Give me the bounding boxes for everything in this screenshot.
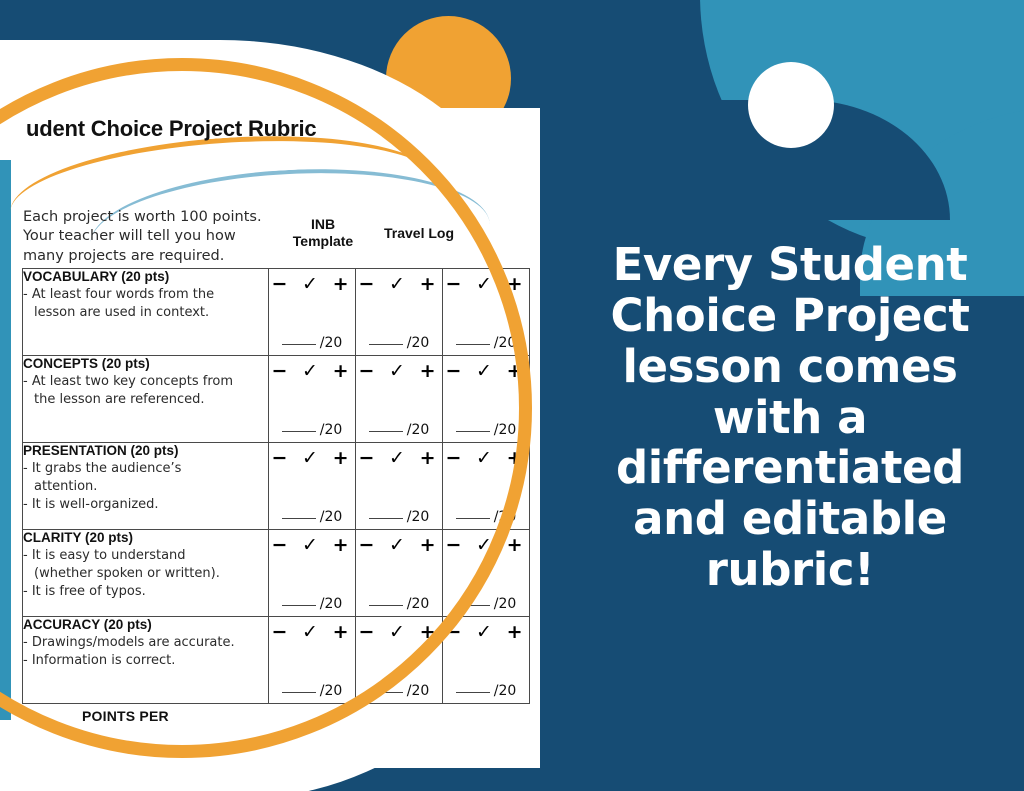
score-cell[interactable]: − ✓ + /20 — [443, 530, 530, 617]
criterion-cell-concepts: CONCEPTS (20 pts) - At least two key con… — [23, 356, 269, 443]
table-column-headers: INB Template Travel Log — [273, 206, 533, 260]
criterion-bullet: - It is easy to understand — [23, 548, 268, 565]
table-row: ACCURACY (20 pts) - Drawings/models are … — [23, 617, 530, 704]
score-rule — [369, 518, 403, 519]
criterion-title: PRESENTATION (20 pts) — [23, 443, 268, 460]
criterion-bullet: - At least two key concepts from — [23, 374, 268, 391]
criterion-bullet: - It is free of typos. — [23, 584, 268, 601]
score-blank[interactable]: /20 — [443, 335, 529, 351]
score-cell[interactable]: − ✓ + /20 — [443, 269, 530, 356]
criterion-title: CONCEPTS (20 pts) — [23, 356, 268, 373]
rubric-table: VOCABULARY (20 pts) - At least four word… — [22, 268, 530, 704]
score-denominator: /20 — [320, 683, 343, 699]
criterion-bullet: (whether spoken or written). — [23, 566, 268, 583]
score-blank[interactable]: /20 — [356, 596, 442, 612]
mark-scale: − ✓ + — [443, 534, 529, 556]
score-cell[interactable]: − ✓ + /20 — [443, 617, 530, 704]
score-cell[interactable]: − ✓ + /20 — [269, 617, 356, 704]
score-denominator: /20 — [320, 335, 343, 351]
mark-scale: − ✓ + — [443, 621, 529, 643]
mark-scale: − ✓ + — [356, 273, 442, 295]
score-cell[interactable]: − ✓ + /20 — [356, 530, 443, 617]
score-blank[interactable]: /20 — [443, 422, 529, 438]
score-denominator: /20 — [407, 596, 430, 612]
score-blank[interactable]: /20 — [356, 422, 442, 438]
score-blank[interactable]: /20 — [356, 683, 442, 699]
score-cell[interactable]: − ✓ + /20 — [269, 443, 356, 530]
criterion-bullet: the lesson are referenced. — [23, 392, 268, 409]
score-denominator: /20 — [494, 596, 517, 612]
score-denominator: /20 — [407, 422, 430, 438]
score-rule — [456, 605, 490, 606]
column-header-inb-template: INB Template — [278, 216, 368, 249]
score-cell[interactable]: − ✓ + /20 — [269, 269, 356, 356]
mark-scale: − ✓ + — [269, 621, 355, 643]
criterion-bullet: - It is well-organized. — [23, 497, 268, 514]
mark-scale: − ✓ + — [269, 360, 355, 382]
score-blank[interactable]: /20 — [443, 596, 529, 612]
score-denominator: /20 — [407, 335, 430, 351]
score-denominator: /20 — [494, 422, 517, 438]
criterion-title: ACCURACY (20 pts) — [23, 617, 268, 634]
mark-scale: − ✓ + — [356, 447, 442, 469]
score-denominator: /20 — [320, 422, 343, 438]
promo-graphic: udent Choice Project Rubric Each project… — [0, 0, 1024, 791]
score-rule — [369, 605, 403, 606]
headline-line: lesson comes — [566, 342, 1014, 393]
score-denominator: /20 — [407, 509, 430, 525]
mark-scale: − ✓ + — [443, 447, 529, 469]
score-blank[interactable]: /20 — [269, 683, 355, 699]
headline-line: Every Student — [566, 240, 1014, 291]
score-rule — [369, 431, 403, 432]
document-intro-text: Each project is worth 100 points. Your t… — [23, 208, 268, 266]
score-rule — [456, 431, 490, 432]
score-denominator: /20 — [320, 509, 343, 525]
score-rule — [456, 518, 490, 519]
criterion-bullet: lesson are used in context. — [23, 305, 268, 322]
headline-line: and editable — [566, 494, 1014, 545]
score-denominator: /20 — [320, 596, 343, 612]
score-cell[interactable]: − ✓ + /20 — [443, 443, 530, 530]
column-header-travel-log: Travel Log — [373, 225, 465, 242]
score-denominator: /20 — [494, 509, 517, 525]
score-cell[interactable]: − ✓ + /20 — [356, 356, 443, 443]
criterion-bullet: attention. — [23, 479, 268, 496]
mark-scale: − ✓ + — [269, 447, 355, 469]
score-cell[interactable]: − ✓ + /20 — [356, 269, 443, 356]
headline-text: Every Student Choice Project lesson come… — [566, 240, 1014, 596]
criterion-bullets: - At least four words from the lesson ar… — [23, 287, 268, 322]
score-blank[interactable]: /20 — [269, 509, 355, 525]
headline-line: with a — [566, 393, 1014, 444]
criterion-cell-accuracy: ACCURACY (20 pts) - Drawings/models are … — [23, 617, 269, 704]
table-row: VOCABULARY (20 pts) - At least four word… — [23, 269, 530, 356]
headline-line: differentiated — [566, 443, 1014, 494]
headline-line: rubric! — [566, 545, 1014, 596]
criterion-bullets: - Drawings/models are accurate. - Inform… — [23, 635, 268, 670]
score-rule — [456, 344, 490, 345]
white-circle-icon — [748, 62, 834, 148]
table-row: PRESENTATION (20 pts) - It grabs the aud… — [23, 443, 530, 530]
criterion-title: VOCABULARY (20 pts) — [23, 269, 268, 286]
score-blank[interactable]: /20 — [356, 335, 442, 351]
mark-scale: − ✓ + — [269, 273, 355, 295]
score-rule — [369, 692, 403, 693]
criterion-cell-clarity: CLARITY (20 pts) - It is easy to underst… — [23, 530, 269, 617]
criterion-bullets: - At least two key concepts from the les… — [23, 374, 268, 409]
mark-scale: − ✓ + — [443, 360, 529, 382]
score-cell[interactable]: − ✓ + /20 — [356, 443, 443, 530]
mark-scale: − ✓ + — [269, 534, 355, 556]
mark-scale: − ✓ + — [356, 534, 442, 556]
document-title: udent Choice Project Rubric — [26, 116, 356, 143]
score-rule — [282, 518, 316, 519]
criterion-bullet: - Information is correct. — [23, 653, 268, 670]
score-blank[interactable]: /20 — [356, 509, 442, 525]
mark-scale: − ✓ + — [356, 360, 442, 382]
mark-scale: − ✓ + — [443, 273, 529, 295]
score-blank[interactable]: /20 — [443, 683, 529, 699]
score-rule — [282, 431, 316, 432]
criterion-cell-presentation: PRESENTATION (20 pts) - It grabs the aud… — [23, 443, 269, 530]
score-rule — [282, 692, 316, 693]
document-left-accent-bar — [0, 160, 11, 720]
score-cell[interactable]: − ✓ + /20 — [269, 530, 356, 617]
criterion-bullets: - It grabs the audience’s attention. - I… — [23, 461, 268, 514]
score-cell[interactable]: − ✓ + /20 — [443, 356, 530, 443]
score-rule — [456, 692, 490, 693]
score-cell[interactable]: − ✓ + /20 — [356, 617, 443, 704]
criterion-bullet: - Drawings/models are accurate. — [23, 635, 268, 652]
score-blank[interactable]: /20 — [443, 509, 529, 525]
score-denominator: /20 — [407, 683, 430, 699]
rubric-document: udent Choice Project Rubric Each project… — [0, 108, 540, 768]
score-blank[interactable]: /20 — [269, 335, 355, 351]
totals-label: POINTS PER — [82, 708, 169, 724]
score-rule — [369, 344, 403, 345]
table-row: CONCEPTS (20 pts) - At least two key con… — [23, 356, 530, 443]
criterion-bullets: - It is easy to understand (whether spok… — [23, 548, 268, 601]
score-cell[interactable]: − ✓ + /20 — [269, 356, 356, 443]
criterion-bullet: - It grabs the audience’s — [23, 461, 268, 478]
score-rule — [282, 344, 316, 345]
score-denominator: /20 — [494, 335, 517, 351]
criterion-title: CLARITY (20 pts) — [23, 530, 268, 547]
score-rule — [282, 605, 316, 606]
table-row: CLARITY (20 pts) - It is easy to underst… — [23, 530, 530, 617]
criterion-cell-vocabulary: VOCABULARY (20 pts) - At least four word… — [23, 269, 269, 356]
score-blank[interactable]: /20 — [269, 596, 355, 612]
mark-scale: − ✓ + — [356, 621, 442, 643]
score-denominator: /20 — [494, 683, 517, 699]
headline-line: Choice Project — [566, 291, 1014, 342]
score-blank[interactable]: /20 — [269, 422, 355, 438]
criterion-bullet: - At least four words from the — [23, 287, 268, 304]
